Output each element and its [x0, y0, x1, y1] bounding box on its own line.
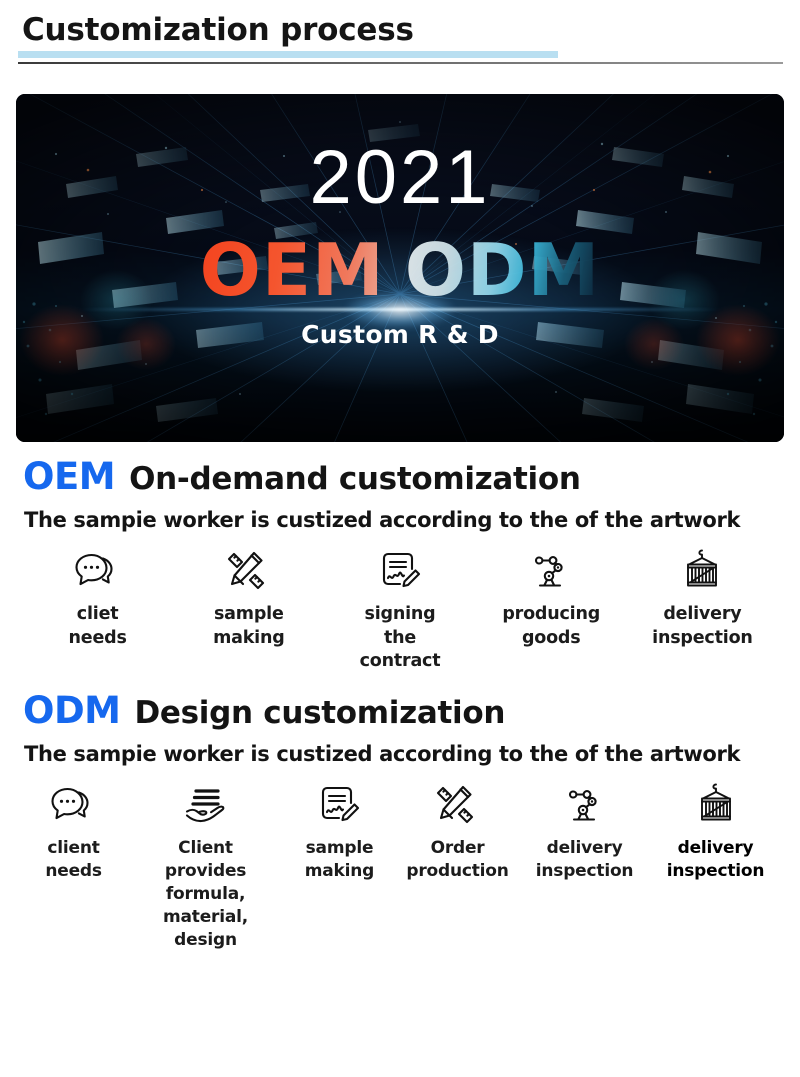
banner-acronym-oem: OEM: [200, 234, 385, 306]
section-odm-acronym: ODM: [23, 692, 121, 729]
step-label-line: contract: [360, 651, 441, 671]
step-label-line: client: [47, 838, 99, 858]
step-label-line: making: [305, 861, 374, 881]
step-label-line: signing the: [365, 604, 436, 648]
step-label-line: inspection: [536, 861, 634, 881]
oem-step-client-needs[interactable]: cliet needs: [44, 548, 151, 650]
step-label-line: cliet: [77, 604, 119, 624]
odm-step-label: delivery inspection: [667, 837, 765, 883]
odm-step-client-provides[interactable]: Client provides formula, material, desig…: [135, 782, 276, 952]
step-label-line: Order: [431, 838, 485, 858]
step-label-line: delivery: [663, 604, 741, 624]
step-label-line: Client provides: [165, 838, 246, 881]
oem-step-label: sample making: [213, 603, 284, 650]
step-label-line: inspection: [667, 861, 765, 881]
odm-step-label: Order production: [406, 837, 508, 883]
step-label-line: needs: [69, 628, 127, 648]
banner-acronyms: OEM ODM: [200, 234, 601, 306]
section-odm-subtitle: The sampie worker is custized according …: [16, 742, 784, 766]
step-label-line: needs: [45, 861, 101, 881]
oem-step-label: cliet needs: [69, 603, 127, 650]
robot-arm-icon: [563, 782, 607, 828]
oem-step-label: delivery inspection: [652, 603, 753, 650]
signed-document-icon: [317, 782, 361, 828]
signed-document-icon: [378, 548, 422, 594]
step-label-line: design: [174, 930, 237, 950]
crate-hook-icon: [681, 548, 723, 594]
page-title: Customization process: [22, 14, 800, 47]
pencil-ruler-icon: [226, 548, 272, 594]
title-divider-rule: [18, 62, 783, 64]
odm-step-label: Client provides formula, material, desig…: [135, 837, 276, 952]
step-label-line: goods: [522, 628, 581, 648]
title-underline-accent: [18, 51, 558, 58]
odm-step-label: client needs: [45, 837, 101, 883]
chat-bubbles-icon: [49, 782, 99, 828]
step-label-line: sample: [306, 838, 374, 858]
step-label-line: delivery: [547, 838, 623, 858]
page-header: Customization process: [0, 0, 800, 72]
step-label-line: delivery: [678, 838, 754, 858]
robot-arm-icon: [529, 548, 573, 594]
banner-acronym-odm: ODM: [405, 234, 601, 306]
step-label-line: making: [213, 628, 284, 648]
oem-step-sample-making[interactable]: sample making: [195, 548, 302, 650]
odm-step-delivery-inspection-robot[interactable]: delivery inspection: [526, 782, 643, 883]
oem-step-signing-contract[interactable]: signing the contract: [346, 548, 453, 674]
crate-hook-icon: [695, 782, 737, 828]
banner-tagline: Custom R & D: [301, 320, 499, 349]
odm-step-client-needs[interactable]: client needs: [26, 782, 121, 883]
step-label-line: production: [406, 861, 508, 881]
chat-bubbles-icon: [73, 548, 123, 594]
oem-step-producing-goods[interactable]: producing goods: [498, 548, 605, 650]
odm-step-row: client needs Client provides: [16, 782, 784, 952]
odm-step-order-production[interactable]: Order production: [403, 782, 512, 883]
oem-step-label: signing the contract: [346, 603, 453, 674]
section-oem-header: OEM On-demand customization: [16, 458, 784, 495]
odm-step-sample-making[interactable]: sample making: [290, 782, 389, 883]
oem-step-label: producing goods: [502, 603, 600, 650]
section-oem: OEM On-demand customization The sampie w…: [0, 458, 800, 674]
banner-text-block: 2021 OEM ODM Custom R & D: [16, 94, 784, 442]
pencil-ruler-icon: [435, 782, 481, 828]
section-oem-acronym: OEM: [23, 458, 115, 495]
section-odm-header: ODM Design customization: [16, 692, 784, 729]
section-oem-title: On-demand customization: [129, 464, 581, 495]
odm-step-label: delivery inspection: [536, 837, 634, 883]
hero-banner: 2021 OEM ODM Custom R & D: [16, 94, 784, 442]
step-label-line: inspection: [652, 628, 753, 648]
odm-step-label: sample making: [305, 837, 374, 883]
step-label-line: producing: [502, 604, 600, 624]
odm-step-delivery-inspection-crate[interactable]: delivery inspection: [657, 782, 774, 883]
step-label-line: formula,: [166, 884, 245, 904]
step-label-line: sample: [214, 604, 284, 624]
oem-step-row: cliet needs sample making: [16, 548, 784, 674]
section-oem-subtitle: The sampie worker is custized according …: [16, 508, 784, 532]
step-label-line: material,: [163, 907, 248, 927]
oem-step-delivery-inspection[interactable]: delivery inspection: [649, 548, 756, 650]
hand-documents-icon: [183, 782, 229, 828]
section-odm-title: Design customization: [135, 698, 506, 729]
banner-year: 2021: [309, 140, 490, 216]
section-odm: ODM Design customization The sampie work…: [0, 692, 800, 952]
